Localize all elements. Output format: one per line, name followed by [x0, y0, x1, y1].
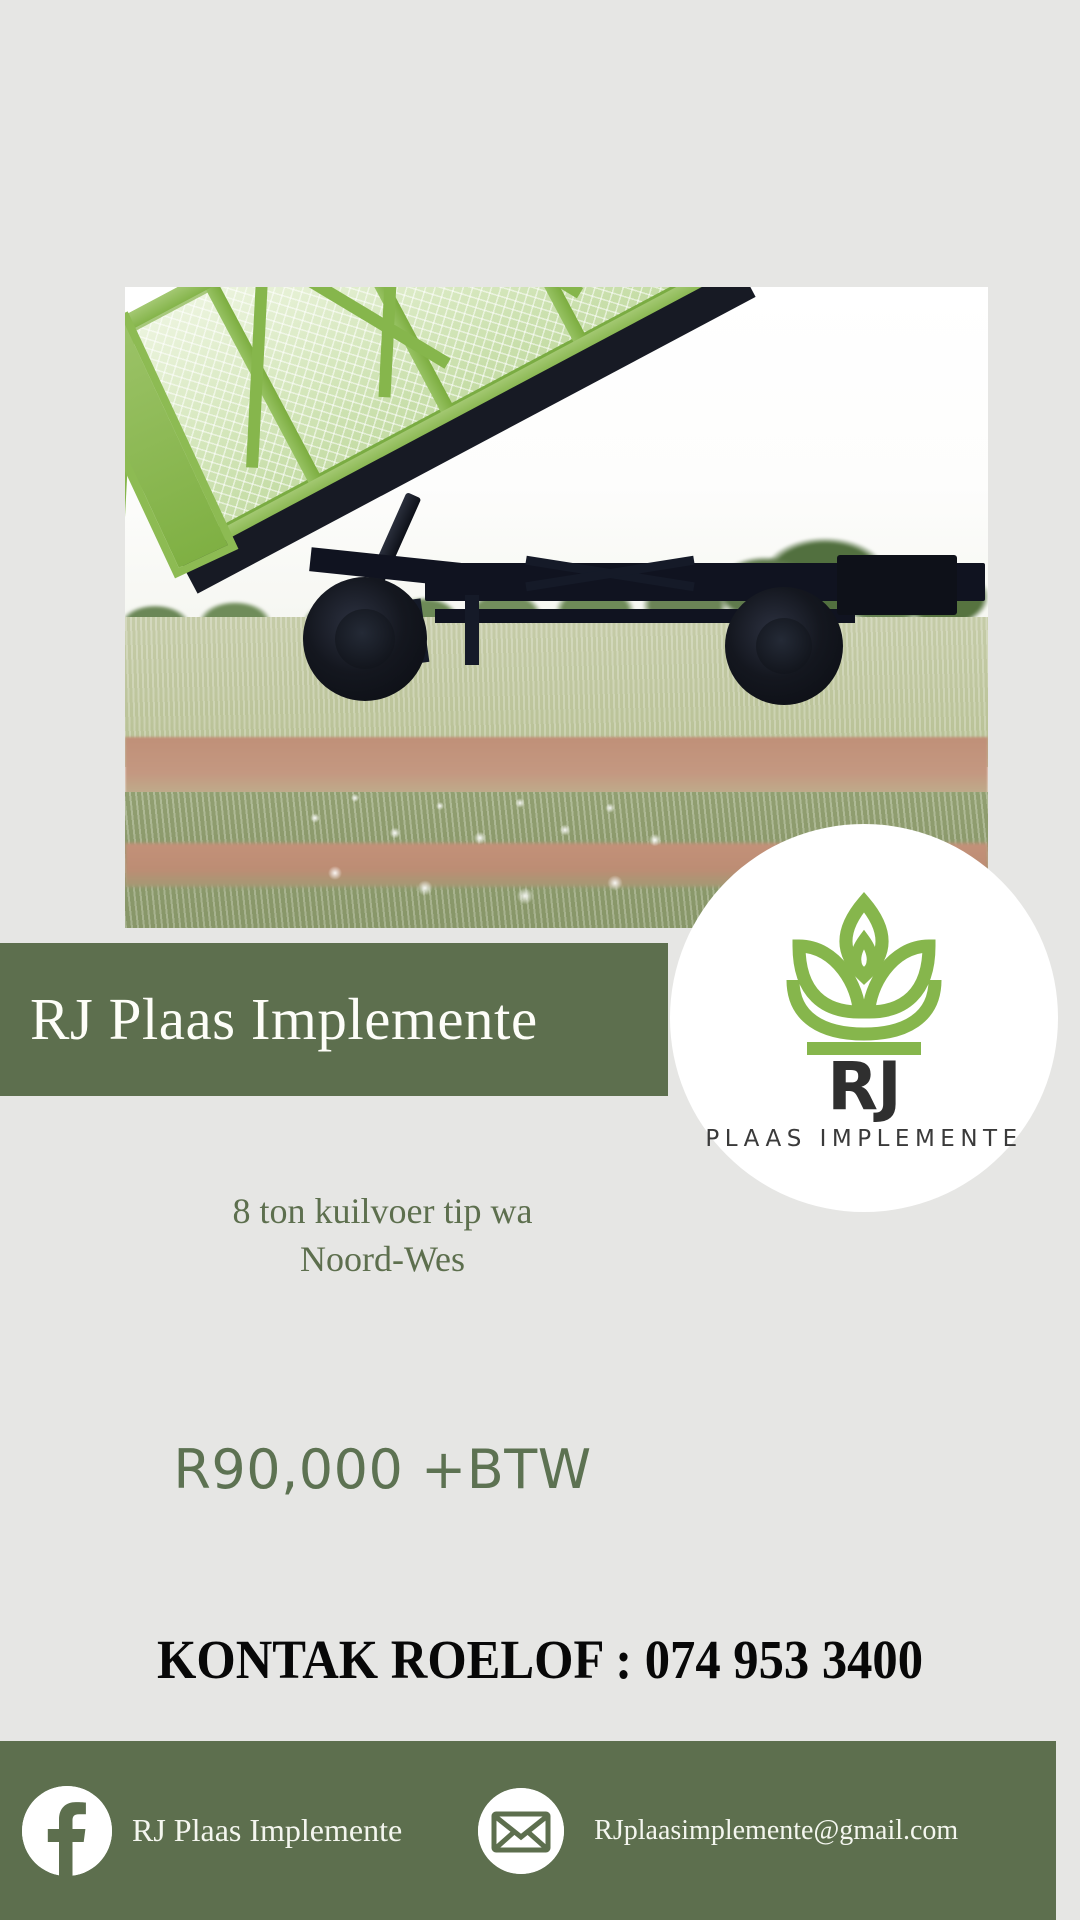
email-label[interactable]: RJplaasimplemente@gmail.com — [594, 1815, 958, 1847]
trailer-wheel — [303, 577, 427, 701]
foreground-flowers — [275, 778, 695, 928]
leaf-crown-icon — [759, 884, 969, 1062]
facebook-contact[interactable]: RJ Plaas Implemente — [22, 1786, 402, 1876]
chassis-leg — [465, 595, 479, 665]
logo-subtitle: PLAAS IMPLEMENTE — [705, 1126, 1022, 1152]
trailer-wheel — [725, 587, 843, 705]
logo-initials: RJ — [827, 1056, 900, 1119]
listing-price: R90,000 +BTW — [0, 1438, 765, 1501]
envelope-icon[interactable] — [478, 1788, 564, 1874]
wheel-hub — [335, 609, 395, 669]
email-contact[interactable]: RJplaasimplemente@gmail.com — [478, 1788, 958, 1874]
description-line-1: 8 ton kuilvoer tip wa — [0, 1188, 765, 1236]
footer-bar: RJ Plaas Implemente RJplaasimplemente@gm… — [0, 1741, 1056, 1920]
description-line-2: Noord-Wes — [0, 1236, 765, 1284]
facebook-icon[interactable] — [22, 1786, 112, 1876]
facebook-label[interactable]: RJ Plaas Implemente — [132, 1812, 402, 1849]
company-title: RJ Plaas Implemente — [0, 985, 538, 1054]
wheel-hub — [756, 618, 813, 675]
contact-line: KONTAK ROELOF : 074 953 3400 — [43, 1628, 1037, 1691]
title-banner: RJ Plaas Implemente — [0, 943, 668, 1096]
logo-badge: RJ PLAAS IMPLEMENTE — [670, 824, 1058, 1212]
trailer-rear-hitch — [837, 555, 957, 615]
listing-description: 8 ton kuilvoer tip wa Noord-Wes — [0, 1188, 765, 1284]
